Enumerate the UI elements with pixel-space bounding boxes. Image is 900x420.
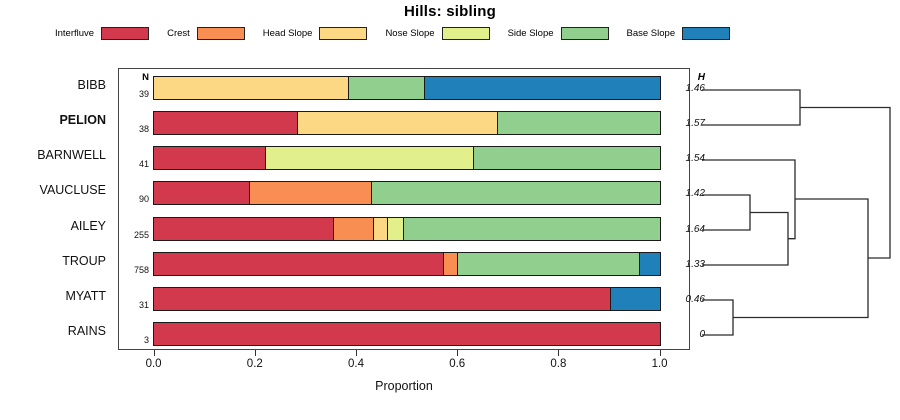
x-axis-tick	[558, 350, 559, 356]
bar-segment[interactable]	[404, 218, 660, 240]
legend-item[interactable]: Side Slope	[508, 27, 609, 40]
legend: InterfluveCrestHead SlopeNose SlopeSide …	[55, 24, 855, 42]
bar-segment[interactable]	[425, 77, 660, 99]
bar-row: 310.46	[119, 281, 689, 316]
x-axis-tick	[154, 350, 155, 356]
x-axis-tick	[356, 350, 357, 356]
y-axis-label-troup: TROUP	[0, 254, 106, 268]
x-axis-tick-label: 0.6	[437, 358, 477, 370]
bar-segment[interactable]	[266, 147, 474, 169]
row-n-value: 758	[119, 265, 149, 275]
row-h-value: 1.54	[665, 153, 705, 164]
row-h-value: 1.57	[665, 118, 705, 129]
bar-segment[interactable]	[154, 253, 444, 275]
bar-segment[interactable]	[154, 323, 660, 345]
bar-row: 2551.64	[119, 210, 689, 245]
x-axis-tick-label: 0.2	[235, 358, 275, 370]
row-h-value: 1.33	[665, 259, 705, 270]
chart-root: Hills: sibling InterfluveCrestHead Slope…	[0, 0, 900, 420]
stacked-bar[interactable]	[153, 217, 661, 241]
legend-color-swatch	[442, 27, 490, 40]
stacked-bar[interactable]	[153, 252, 661, 276]
legend-item-label: Interfluve	[55, 28, 94, 39]
bar-segment[interactable]	[154, 77, 349, 99]
bar-segment[interactable]	[374, 218, 388, 240]
legend-color-swatch	[319, 27, 367, 40]
bar-segment[interactable]	[298, 112, 498, 134]
bar-row: 391.46	[119, 69, 689, 104]
row-n-value: 255	[119, 230, 149, 240]
bar-segment[interactable]	[154, 218, 334, 240]
bar-segment[interactable]	[388, 218, 404, 240]
bar-segment[interactable]	[372, 182, 660, 204]
x-axis-tick-label: 0.0	[134, 358, 174, 370]
y-axis-label-pelion: PELION	[0, 113, 106, 127]
stacked-bar[interactable]	[153, 287, 661, 311]
legend-item-label: Head Slope	[263, 28, 313, 39]
row-h-value: 0	[665, 329, 705, 340]
stacked-bar[interactable]	[153, 322, 661, 346]
bar-segment[interactable]	[458, 253, 640, 275]
bar-segment[interactable]	[611, 288, 660, 310]
row-h-value: 1.42	[665, 188, 705, 199]
legend-item[interactable]: Base Slope	[627, 27, 731, 40]
dendrogram-svg	[700, 68, 900, 350]
bar-segment[interactable]	[349, 77, 425, 99]
y-axis-label-vaucluse: VAUCLUSE	[0, 183, 106, 197]
bar-segment[interactable]	[154, 182, 250, 204]
bar-row: 30	[119, 316, 689, 351]
row-h-value: 0.46	[665, 294, 705, 305]
bar-row: 381.57	[119, 104, 689, 139]
y-axis-label-ailey: AILEY	[0, 219, 106, 233]
row-n-value: 90	[119, 194, 149, 204]
row-n-value: 41	[119, 159, 149, 169]
bar-row: 7581.33	[119, 245, 689, 280]
legend-color-swatch	[561, 27, 609, 40]
legend-item[interactable]: Interfluve	[55, 27, 149, 40]
legend-item-label: Crest	[167, 28, 190, 39]
row-n-value: 38	[119, 124, 149, 134]
bar-segment[interactable]	[498, 112, 660, 134]
bar-segment[interactable]	[250, 182, 372, 204]
row-n-value: 3	[119, 335, 149, 345]
bar-segment[interactable]	[444, 253, 458, 275]
y-axis-label-bibb: BIBB	[0, 78, 106, 92]
bar-segment[interactable]	[154, 288, 611, 310]
x-axis-tick	[457, 350, 458, 356]
legend-item-label: Base Slope	[627, 28, 676, 39]
dendrogram-links	[702, 90, 890, 335]
legend-color-swatch	[682, 27, 730, 40]
legend-item-label: Side Slope	[508, 28, 554, 39]
row-h-value: 1.46	[665, 83, 705, 94]
stacked-bar[interactable]	[153, 181, 661, 205]
bar-row: 411.54	[119, 140, 689, 175]
y-axis-label-rains: RAINS	[0, 324, 106, 338]
x-axis-tick	[255, 350, 256, 356]
bar-segment[interactable]	[154, 147, 266, 169]
legend-color-swatch	[101, 27, 149, 40]
bar-segment[interactable]	[474, 147, 660, 169]
x-axis-tick-label: 1.0	[640, 358, 680, 370]
bar-row: 901.42	[119, 175, 689, 210]
x-axis-tick-label: 0.8	[538, 358, 578, 370]
x-axis-tick-label: 0.4	[336, 358, 376, 370]
bar-segment[interactable]	[154, 112, 298, 134]
x-axis-tick	[660, 350, 661, 356]
bar-segment[interactable]	[334, 218, 374, 240]
chart-title: Hills: sibling	[0, 3, 900, 20]
legend-item[interactable]: Crest	[167, 27, 245, 40]
x-axis-title: Proportion	[118, 379, 690, 393]
stacked-bar-rows: 391.46381.57411.54901.422551.647581.3331…	[119, 69, 689, 349]
row-h-value: 1.64	[665, 224, 705, 235]
y-axis-label-barnwell: BARNWELL	[0, 148, 106, 162]
stacked-bar[interactable]	[153, 146, 661, 170]
legend-item-label: Nose Slope	[385, 28, 434, 39]
legend-item[interactable]: Head Slope	[263, 27, 368, 40]
y-axis-label-myatt: MYATT	[0, 289, 106, 303]
plot-panel: N H 391.46381.57411.54901.422551.647581.…	[118, 68, 690, 350]
stacked-bar[interactable]	[153, 76, 661, 100]
legend-item[interactable]: Nose Slope	[385, 27, 489, 40]
y-axis-category-labels: BIBBPELIONBARNWELLVAUCLUSEAILEYTROUPMYAT…	[0, 68, 112, 350]
bar-segment[interactable]	[640, 253, 660, 275]
legend-color-swatch	[197, 27, 245, 40]
stacked-bar[interactable]	[153, 111, 661, 135]
row-n-value: 39	[119, 89, 149, 99]
row-n-value: 31	[119, 300, 149, 310]
dendrogram	[700, 68, 900, 350]
